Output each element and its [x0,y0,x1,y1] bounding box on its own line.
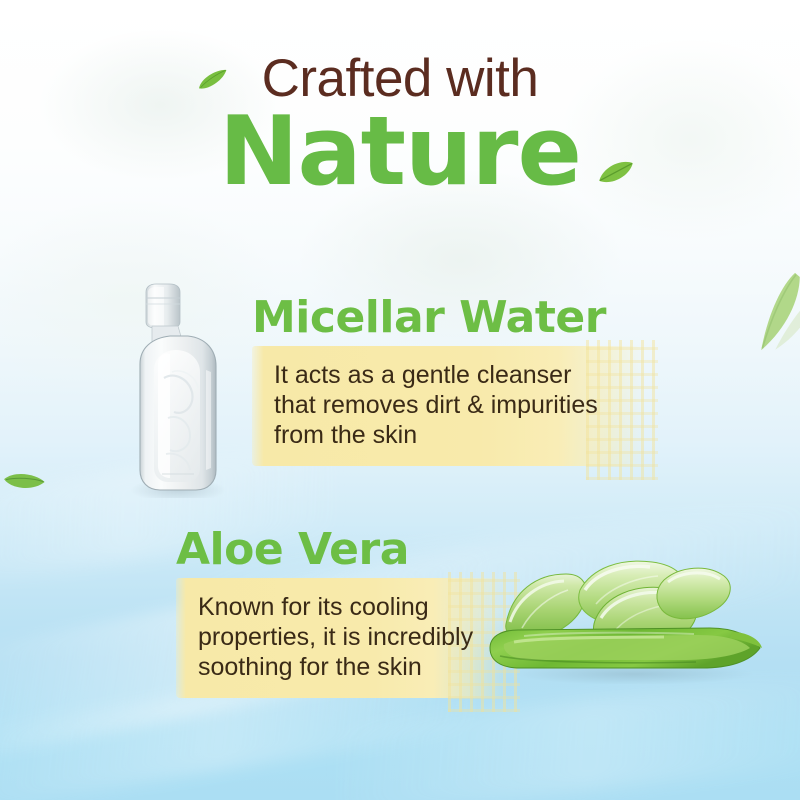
ingredient-highlight-band: It acts as a gentle cleanser that remove… [252,346,644,466]
ingredient-description-micellar-water: It acts as a gentle cleanser that remove… [274,360,614,450]
ingredient-title-aloe-vera: Aloe Vera [176,528,506,572]
headline-line-2: Nature [0,103,800,203]
headline-block: Crafted with Nature [0,52,800,203]
ingredient-block-aloe-vera: Aloe Vera Known for its cooling properti… [176,528,506,698]
background-blotch [0,200,280,400]
ingredient-highlight-band: Known for its cooling properties, it is … [176,578,506,698]
infographic-canvas: Crafted with Nature [0,0,800,800]
leaf-icon [760,292,800,354]
micellar-water-bottle-image [112,278,240,498]
ingredient-description-aloe-vera: Known for its cooling properties, it is … [198,592,476,682]
ingredient-block-micellar-water: Micellar Water It acts as a gentle clean… [252,296,644,466]
ingredient-title-micellar-water: Micellar Water [252,296,644,340]
leaf-icon [0,465,48,499]
leaf-icon [732,267,800,354]
aloe-vera-leaves-image [484,552,776,684]
